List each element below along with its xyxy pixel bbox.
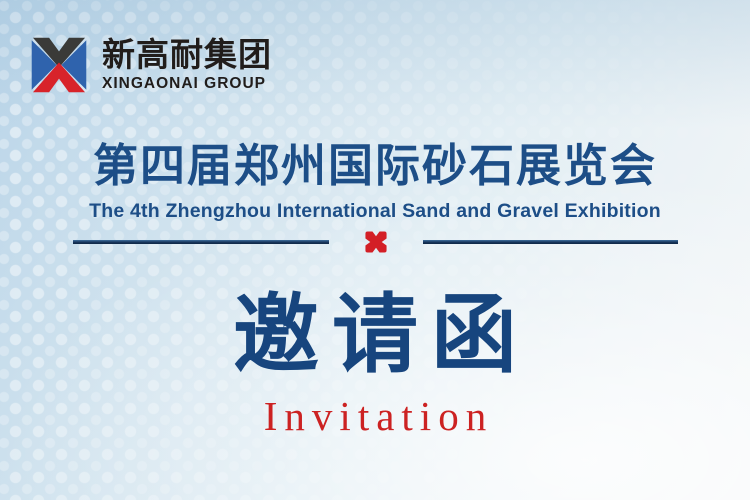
divider-rule-left [73,240,329,244]
x-logo-mark-icon [28,34,90,96]
red-x-ornament-icon [365,231,387,253]
company-logo: 新高耐集团 XINGAONAI GROUP [28,34,272,96]
invitation-headline-en: Invitation [0,396,750,437]
divider-rule-right [423,240,679,244]
invitation-headline-cn: 邀请函 [0,292,750,378]
decorative-divider [73,232,678,252]
invitation-poster: 新高耐集团 XINGAONAI GROUP 第四届郑州国际砂石展览会 The 4… [0,0,750,500]
logo-wordmark: 新高耐集团 XINGAONAI GROUP [102,38,272,92]
exhibition-title-en: The 4th Zhengzhou International Sand and… [0,200,750,223]
logo-company-name-en: XINGAONAI GROUP [102,76,272,92]
exhibition-title-cn: 第四届郑州国际砂石展览会 [0,140,750,192]
logo-company-name-cn: 新高耐集团 [102,38,272,73]
